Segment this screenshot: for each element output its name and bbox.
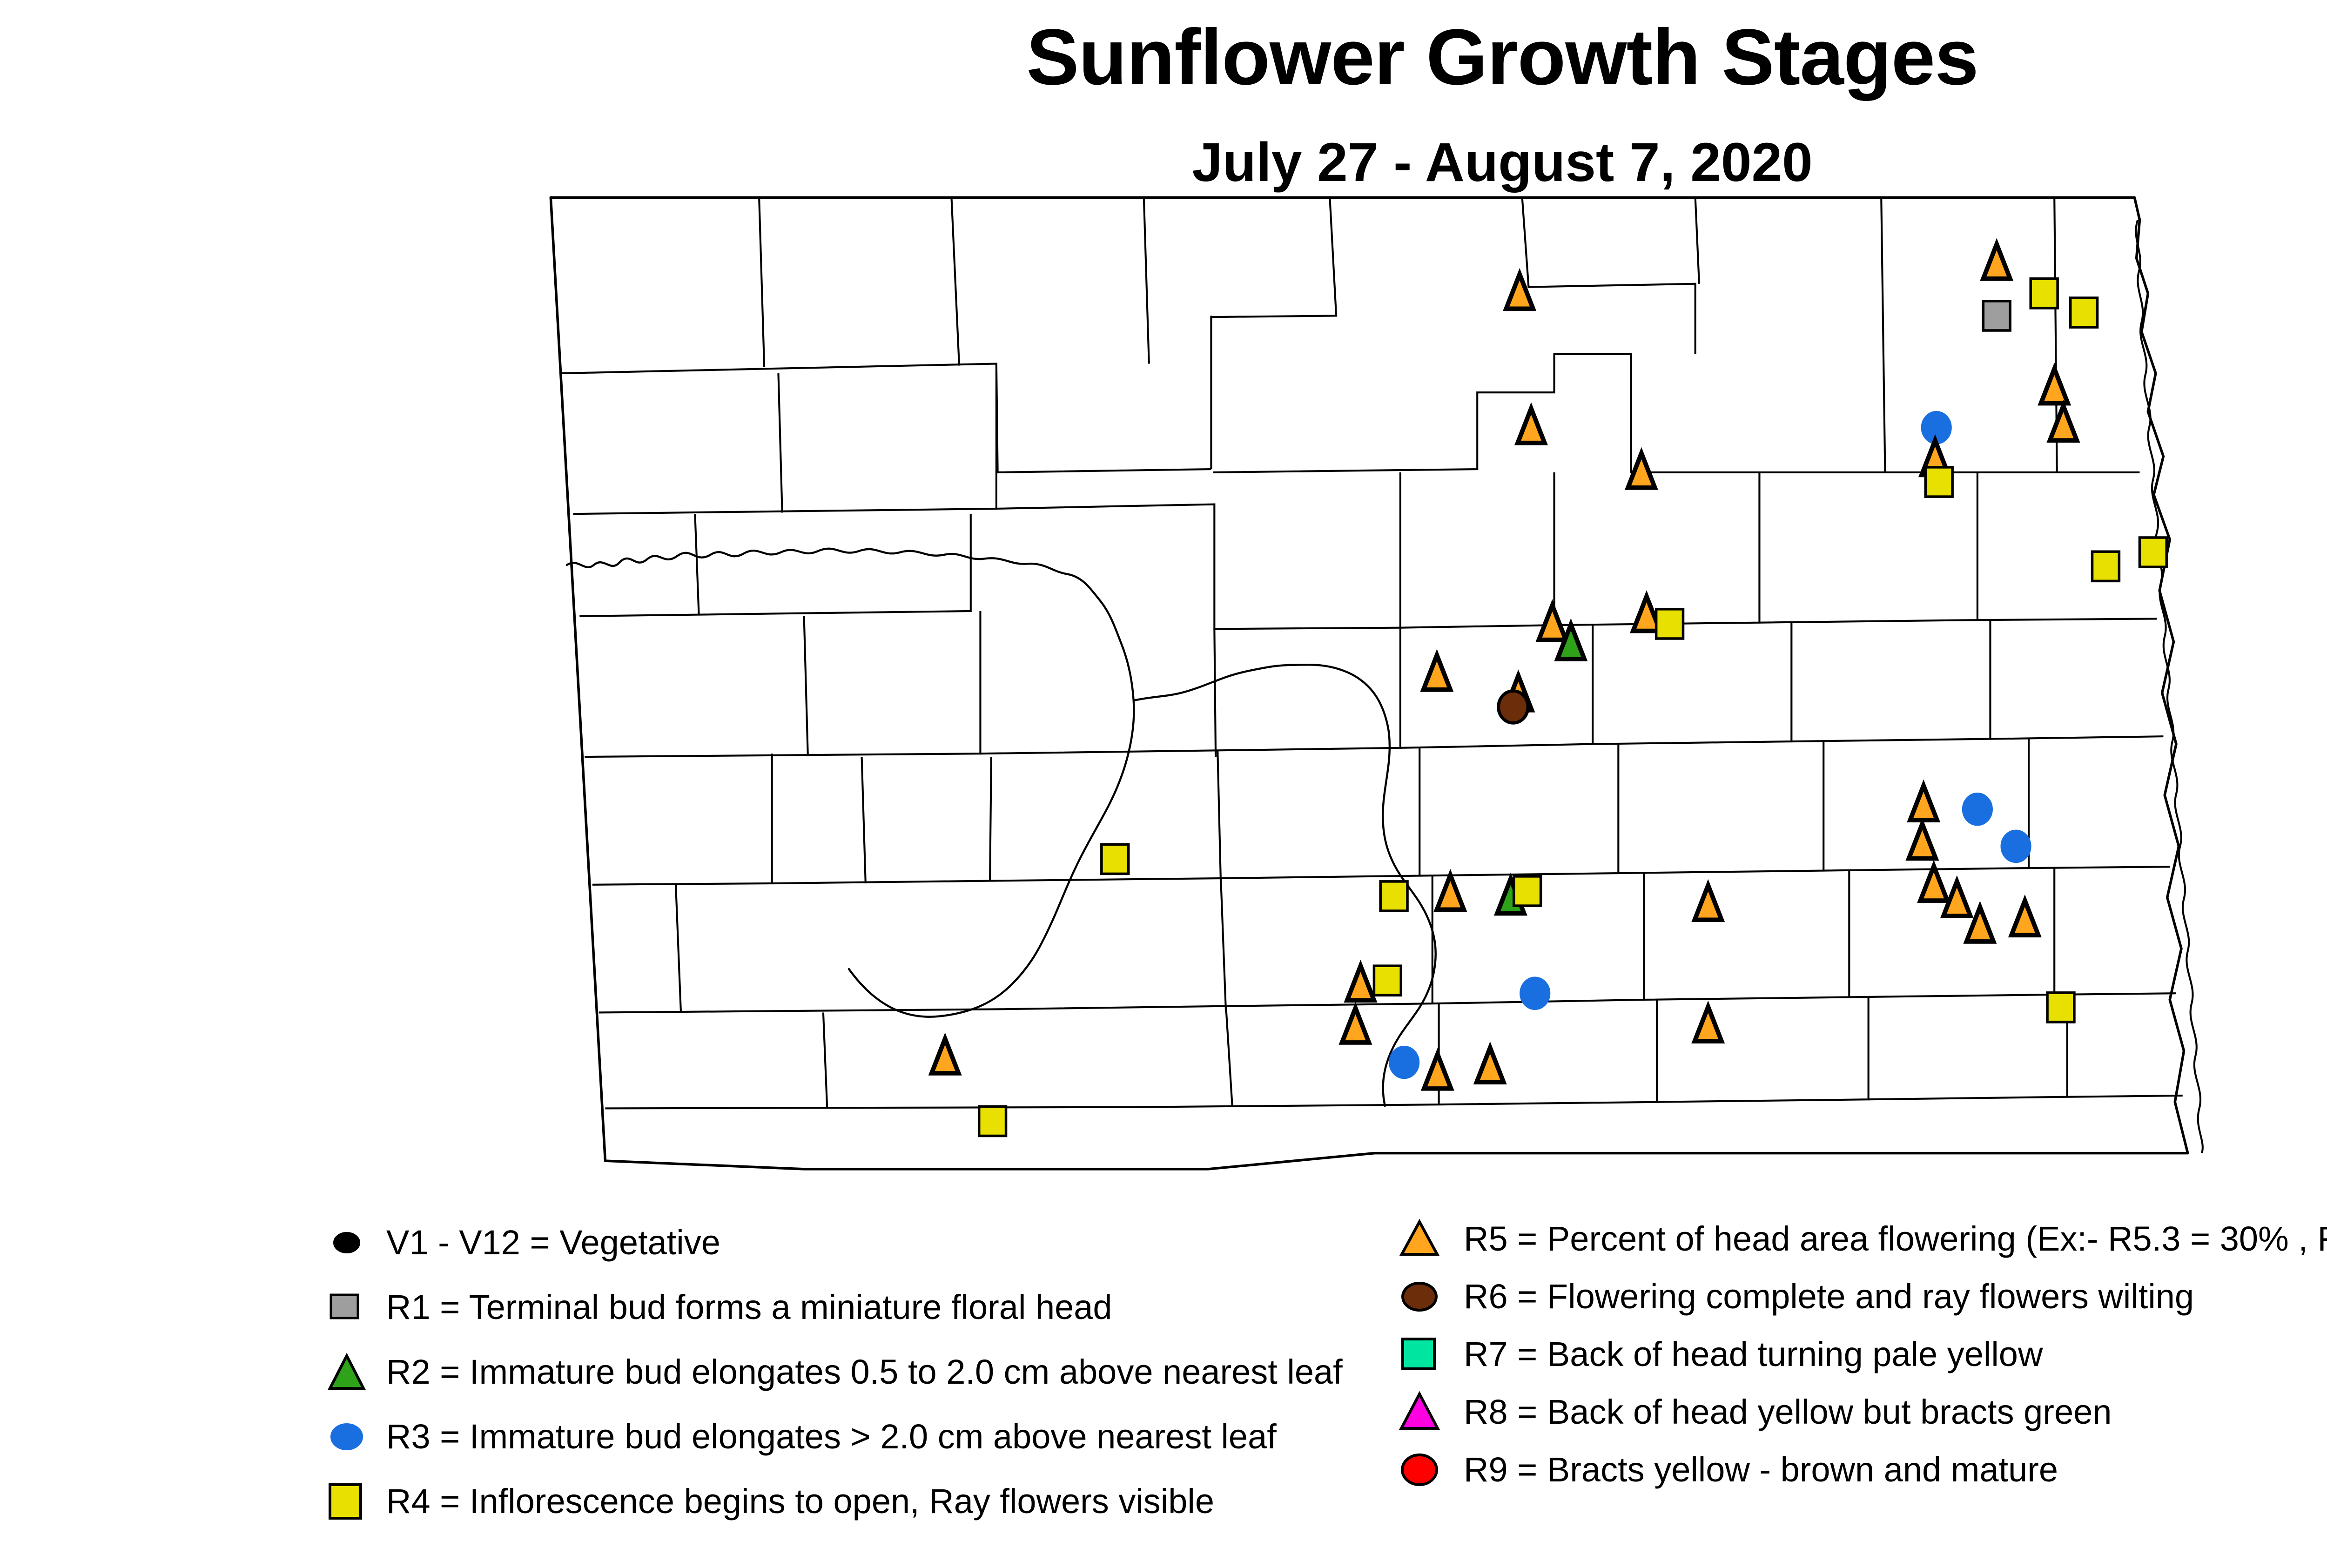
north-dakota-map bbox=[503, 182, 2234, 1191]
r9-marker-icon bbox=[1394, 1444, 1445, 1495]
legend-item-r8[interactable]: R8 = Back of head yellow but bracts gree… bbox=[1394, 1383, 2327, 1441]
legend-label-r7: R7 = Back of head turning pale yellow bbox=[1464, 1337, 2043, 1372]
legend-item-v1-v12[interactable]: V1 - V12 = Vegetative bbox=[321, 1210, 1438, 1275]
legend-item-r1[interactable]: R1 = Terminal bud forms a miniature flor… bbox=[321, 1275, 1438, 1339]
map-marker-r4[interactable] bbox=[1102, 844, 1129, 874]
legend-label-r8: R8 = Back of head yellow but bracts gree… bbox=[1464, 1395, 2112, 1429]
map-marker-r4[interactable] bbox=[2092, 552, 2119, 581]
map-marker-r4[interactable] bbox=[1514, 876, 1541, 906]
map-marker-r4[interactable] bbox=[979, 1106, 1006, 1136]
legend-label-r9: R9 = Bracts yellow - brown and mature bbox=[1464, 1453, 2058, 1487]
legend-item-r2[interactable]: R2 = Immature bud elongates 0.5 to 2.0 c… bbox=[321, 1339, 1438, 1404]
legend-column-left: V1 - V12 = Vegetative R1 = Terminal bud … bbox=[321, 1210, 1438, 1534]
legend-item-r3[interactable]: R3 = Immature bud elongates > 2.0 cm abo… bbox=[321, 1404, 1438, 1469]
r1-marker-icon bbox=[321, 1282, 372, 1333]
map-marker-r4[interactable] bbox=[1374, 966, 1401, 995]
legend-label-r2: R2 = Immature bud elongates 0.5 to 2.0 c… bbox=[386, 1355, 1343, 1389]
r8-marker-icon bbox=[1394, 1386, 1445, 1438]
legend-label-r4: R4 = Inflorescence begins to open, Ray f… bbox=[386, 1484, 1214, 1519]
legend-item-r5[interactable]: R5 = Percent of head area flowering (Ex:… bbox=[1394, 1210, 2327, 1268]
legend-label-r1: R1 = Terminal bud forms a miniature flor… bbox=[386, 1290, 1112, 1325]
map-marker-r4[interactable] bbox=[2031, 279, 2058, 308]
map-marker-r4[interactable] bbox=[2071, 298, 2098, 327]
map-marker-r4[interactable] bbox=[1925, 467, 1952, 497]
vegetative-marker-icon bbox=[321, 1217, 372, 1268]
map-marker-r4[interactable] bbox=[2047, 993, 2074, 1022]
legend-label-v1-v12: V1 - V12 = Vegetative bbox=[386, 1225, 720, 1260]
legend-item-r9[interactable]: R9 = Bracts yellow - brown and mature bbox=[1394, 1441, 2327, 1499]
map-marker-r1[interactable] bbox=[1983, 301, 2010, 330]
r3-marker-icon bbox=[321, 1411, 372, 1462]
r2-marker-icon bbox=[321, 1346, 372, 1398]
map-marker-r3[interactable] bbox=[1520, 977, 1550, 1009]
map-marker-r3[interactable] bbox=[2001, 830, 2031, 862]
r7-marker-icon bbox=[1394, 1329, 1445, 1380]
r4-marker-icon bbox=[321, 1476, 372, 1527]
r5-marker-icon bbox=[1394, 1213, 1445, 1265]
map-svg bbox=[503, 182, 2234, 1191]
legend-item-r6[interactable]: R6 = Flowering complete and ray flowers … bbox=[1394, 1268, 2327, 1326]
legend-label-r3: R3 = Immature bud elongates > 2.0 cm abo… bbox=[386, 1420, 1277, 1454]
r6-marker-icon bbox=[1394, 1271, 1445, 1322]
state-outline bbox=[551, 197, 2187, 1169]
map-marker-r4[interactable] bbox=[1380, 882, 1407, 911]
map-marker-r4[interactable] bbox=[2139, 538, 2166, 567]
map-marker-r4[interactable] bbox=[1656, 609, 1683, 639]
map-marker-r3[interactable] bbox=[1389, 1046, 1419, 1078]
map-marker-r3[interactable] bbox=[1963, 793, 1992, 825]
legend-column-right: R5 = Percent of head area flowering (Ex:… bbox=[1394, 1210, 2327, 1499]
legend-label-r6: R6 = Flowering complete and ray flowers … bbox=[1464, 1279, 2194, 1314]
page-title: Sunflower Growth Stages bbox=[0, 18, 2327, 97]
legend-item-r4[interactable]: R4 = Inflorescence begins to open, Ray f… bbox=[321, 1469, 1438, 1534]
map-marker-r6[interactable] bbox=[1499, 691, 1528, 723]
legend-item-r7[interactable]: R7 = Back of head turning pale yellow bbox=[1394, 1326, 2327, 1383]
legend: V1 - V12 = Vegetative R1 = Terminal bud … bbox=[0, 1210, 2327, 1536]
legend-label-r5: R5 = Percent of head area flowering (Ex:… bbox=[1464, 1222, 2327, 1256]
